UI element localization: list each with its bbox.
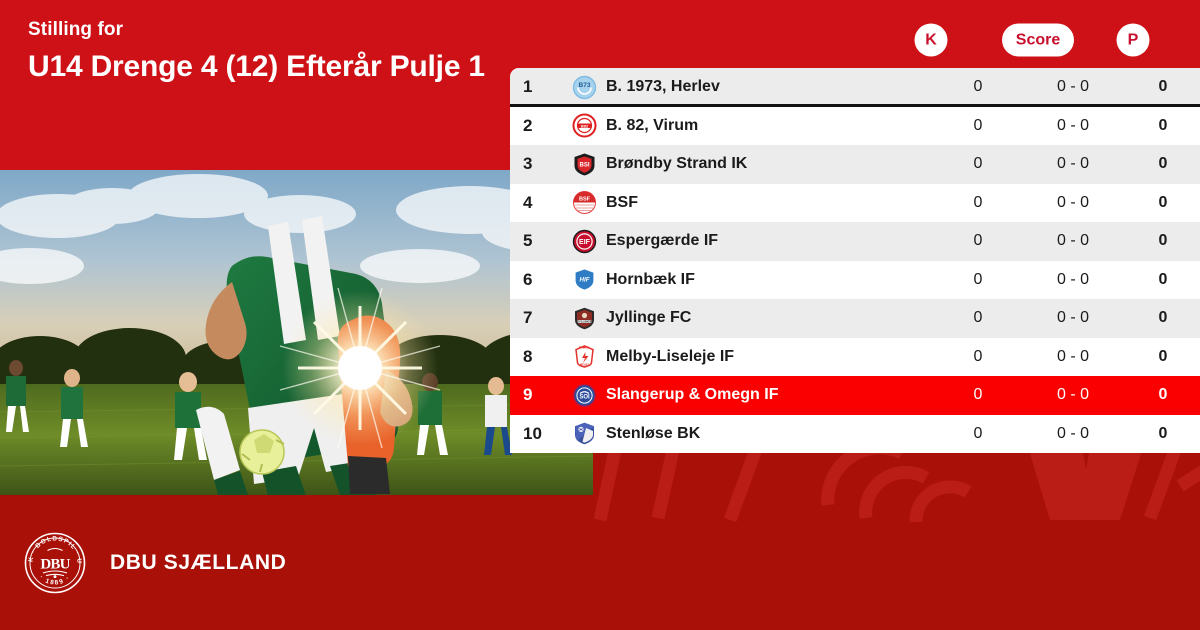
row-score: 0 - 0 xyxy=(1020,232,1126,250)
row-rank: 9 xyxy=(510,385,562,405)
svg-text:JYLLINGE: JYLLINGE xyxy=(577,319,592,323)
row-rank: 5 xyxy=(510,231,562,251)
row-rank: 2 xyxy=(510,116,562,136)
row-team: Brøndby Strand IK xyxy=(606,155,936,173)
footer: DANSK · BOLDSPIL · UNION · 1889 · DBU DB… xyxy=(0,495,1200,630)
table-row[interactable]: 5 EIF Espergærde IF 0 0 - 0 0 xyxy=(510,222,1200,261)
svg-text:B73: B73 xyxy=(578,82,590,89)
row-points: 0 xyxy=(1126,78,1200,96)
row-points: 0 xyxy=(1126,309,1200,327)
crest-slangerup-omegn-if-icon: SOI xyxy=(562,383,606,408)
row-score: 0 - 0 xyxy=(1020,117,1126,135)
crest-espergaerde-if-icon: EIF xyxy=(562,229,606,254)
row-score: 0 - 0 xyxy=(1020,348,1126,366)
dbu-seal-logo-icon: DANSK · BOLDSPIL · UNION · 1889 · DBU xyxy=(24,532,86,594)
row-points: 0 xyxy=(1126,232,1200,250)
row-score: 0 - 0 xyxy=(1020,425,1126,443)
row-k: 0 xyxy=(936,309,1020,327)
svg-text:BSF: BSF xyxy=(579,197,591,203)
row-points: 0 xyxy=(1126,194,1200,212)
svg-text:BSI: BSI xyxy=(579,162,589,168)
organization-name: DBU SJÆLLAND xyxy=(110,551,286,575)
column-header-k: K xyxy=(915,24,948,57)
column-header-p: P xyxy=(1117,24,1150,57)
table-row[interactable]: 8 MELBY Melby-Liseleje IF 0 0 - 0 0 xyxy=(510,338,1200,377)
standings-table: 1 B73 B. 1973, Herlev 0 0 - 0 0 2 B82 B.… xyxy=(510,68,1200,453)
row-k: 0 xyxy=(936,194,1020,212)
row-k: 0 xyxy=(936,348,1020,366)
table-row[interactable]: 2 B82 B. 82, Virum 0 0 - 0 0 xyxy=(510,107,1200,146)
table-row[interactable]: 7 JYLLINGE Jyllinge FC 0 0 - 0 0 xyxy=(510,299,1200,338)
row-rank: 7 xyxy=(510,308,562,328)
table-row[interactable]: 4 BSF BSF 0 0 - 0 0 xyxy=(510,184,1200,223)
row-team: Espergærde IF xyxy=(606,232,936,250)
row-k: 0 xyxy=(936,78,1020,96)
crest-melby-liseleje-if-icon: MELBY xyxy=(562,344,606,369)
crest-b82-virum-icon: B82 xyxy=(562,113,606,138)
crest-b1973-herlev-icon: B73 xyxy=(562,75,606,100)
row-rank: 1 xyxy=(510,77,562,97)
svg-text:B82: B82 xyxy=(580,124,588,129)
svg-text:MELBY: MELBY xyxy=(579,363,588,367)
row-score: 0 - 0 xyxy=(1020,271,1126,289)
column-header-score: Score xyxy=(1002,24,1074,57)
row-k: 0 xyxy=(936,271,1020,289)
row-team: Hornbæk IF xyxy=(606,271,936,289)
row-points: 0 xyxy=(1126,271,1200,289)
row-team: B. 1973, Herlev xyxy=(606,78,936,96)
svg-text:DBU: DBU xyxy=(40,556,70,572)
crest-bsf-icon: BSF xyxy=(562,190,606,215)
crest-brondby-strand-ik-icon: BSI xyxy=(562,152,606,177)
row-score: 0 - 0 xyxy=(1020,78,1126,96)
table-row[interactable]: 3 BSI Brøndby Strand IK 0 0 - 0 0 xyxy=(510,145,1200,184)
column-headers: K Score P xyxy=(0,0,1200,68)
row-rank: 10 xyxy=(510,424,562,444)
row-team: BSF xyxy=(606,194,936,212)
row-k: 0 xyxy=(936,232,1020,250)
row-score: 0 - 0 xyxy=(1020,155,1126,173)
row-points: 0 xyxy=(1126,117,1200,135)
row-score: 0 - 0 xyxy=(1020,309,1126,327)
svg-text:SOI: SOI xyxy=(579,394,590,400)
row-score: 0 - 0 xyxy=(1020,194,1126,212)
row-rank: 8 xyxy=(510,347,562,367)
row-score: 0 - 0 xyxy=(1020,386,1126,404)
row-rank: 3 xyxy=(510,154,562,174)
table-row[interactable]: 10 Stenløse BK 0 0 - 0 0 xyxy=(510,415,1200,454)
crest-stenlose-bk-icon xyxy=(562,421,606,446)
row-team: Melby-Liseleje IF xyxy=(606,348,936,366)
table-row[interactable]: 1 B73 B. 1973, Herlev 0 0 - 0 0 xyxy=(510,68,1200,107)
row-points: 0 xyxy=(1126,155,1200,173)
row-team: B. 82, Virum xyxy=(606,117,936,135)
row-k: 0 xyxy=(936,425,1020,443)
row-k: 0 xyxy=(936,117,1020,135)
row-rank: 4 xyxy=(510,193,562,213)
svg-text:HIF: HIF xyxy=(579,277,589,284)
row-k: 0 xyxy=(936,155,1020,173)
row-points: 0 xyxy=(1126,425,1200,443)
row-points: 0 xyxy=(1126,386,1200,404)
hero-photo xyxy=(0,170,593,495)
row-team: Stenløse BK xyxy=(606,425,936,443)
crest-hornbaek-if-icon: HIF xyxy=(562,267,606,292)
crest-jyllinge-fc-icon: JYLLINGE xyxy=(562,306,606,331)
svg-text:EIF: EIF xyxy=(579,239,591,246)
row-team: Jyllinge FC xyxy=(606,309,936,327)
row-team: Slangerup & Omegn IF xyxy=(606,386,936,404)
row-k: 0 xyxy=(936,386,1020,404)
table-row[interactable]: 6 HIF Hornbæk IF 0 0 - 0 0 xyxy=(510,261,1200,300)
row-points: 0 xyxy=(1126,348,1200,366)
table-row-highlighted[interactable]: 9 SOI Slangerup & Omegn IF 0 0 - 0 0 xyxy=(510,376,1200,415)
row-rank: 6 xyxy=(510,270,562,290)
